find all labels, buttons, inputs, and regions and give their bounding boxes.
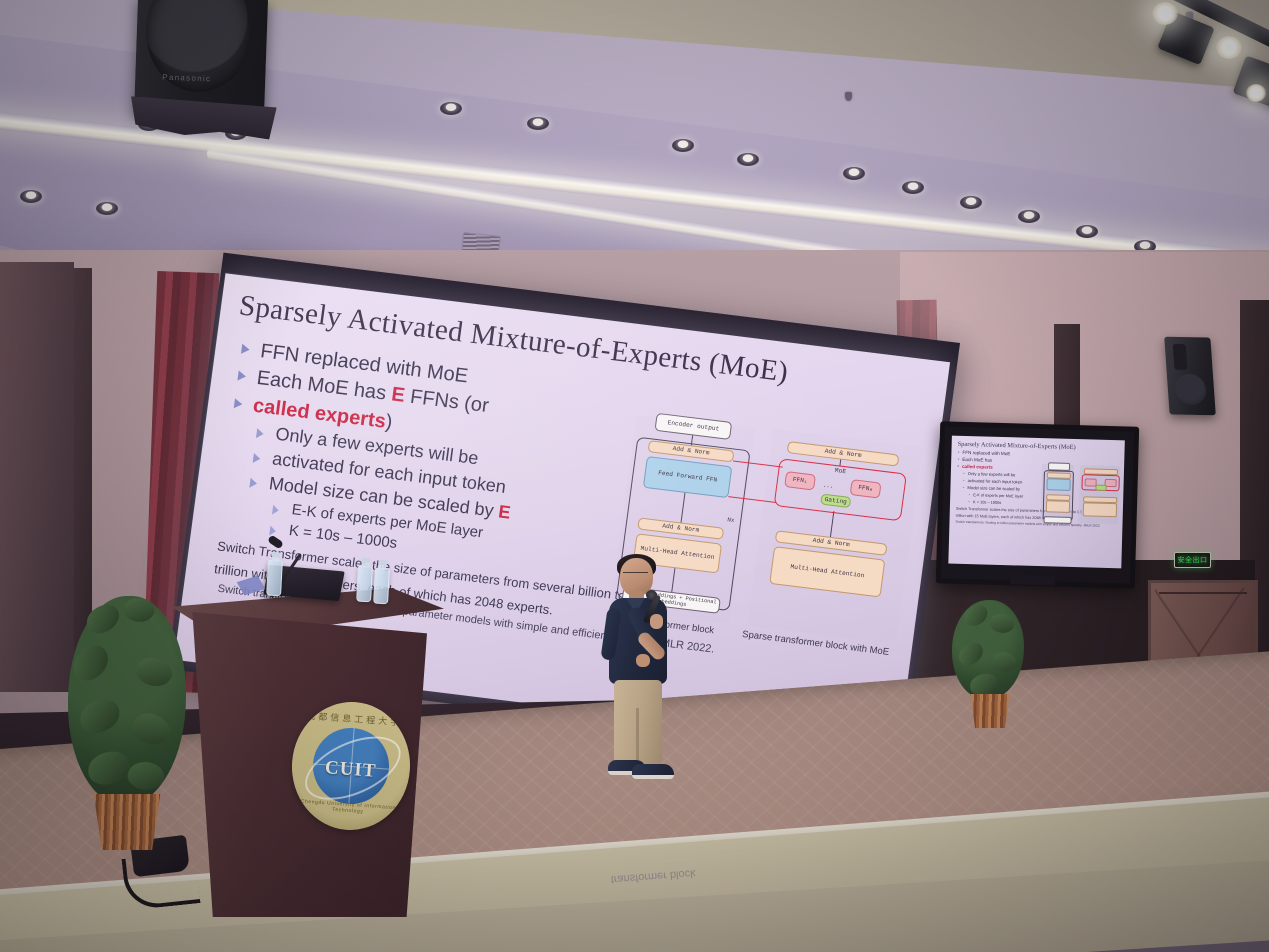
downlight-icon	[527, 117, 549, 130]
downlight-icon	[96, 202, 118, 215]
plant-pot	[90, 794, 164, 850]
monitor-diagram	[1040, 462, 1120, 540]
bottle-cap-icon	[361, 558, 370, 563]
downlight-icon	[843, 167, 865, 180]
potted-plant-left	[58, 596, 208, 864]
downlight-icon	[737, 153, 759, 166]
spotlight-bulb-icon	[1246, 84, 1266, 102]
microphone-head-icon	[646, 590, 657, 600]
conference-hall-scene: Panasonic 安全出口 Sparsely Activated Mixtur…	[0, 0, 1269, 952]
wall-speaker	[1164, 337, 1216, 416]
monitor-stand	[1011, 574, 1055, 585]
glasses-icon	[623, 572, 648, 580]
monitor-screen: Sparsely Activated Mixture-of-Experts (M…	[948, 436, 1125, 569]
downlight-icon	[960, 196, 982, 209]
presenter-shoe-right	[632, 764, 674, 779]
spotlight-bulb-icon	[1152, 2, 1178, 25]
diagram-repeat-label: Nx	[727, 516, 735, 524]
bullet-text-cont: )	[384, 411, 394, 434]
potted-plant-right	[946, 600, 1036, 728]
spotlight-bulb-icon	[1216, 36, 1242, 59]
speaker-woofer-icon	[1174, 374, 1207, 405]
speaker-brand-label: Panasonic	[162, 73, 211, 84]
plant-pot	[968, 694, 1012, 728]
downlight-icon	[672, 139, 694, 152]
trouser-seam	[636, 708, 639, 764]
exit-sign: 安全出口	[1174, 552, 1211, 568]
water-bottle[interactable]	[356, 566, 373, 603]
confidence-monitor: Sparsely Activated Mixture-of-Experts (M…	[936, 421, 1139, 588]
downlight-icon	[1076, 225, 1098, 238]
water-bottle[interactable]	[373, 568, 390, 605]
bullet-emphasis: E	[497, 501, 512, 522]
presenter-hand-right	[636, 654, 650, 667]
bottle-cap-icon	[378, 560, 387, 565]
presenter-hand	[650, 614, 663, 629]
downlight-icon	[902, 181, 924, 194]
downlight-icon	[20, 190, 42, 203]
water-bottle[interactable]	[266, 560, 283, 597]
speaker-tweeter-icon	[1173, 344, 1188, 370]
bottle-cap-icon	[271, 552, 280, 557]
diagram-ellipsis: ...	[822, 482, 834, 490]
downlight-icon	[440, 102, 462, 115]
sprinkler-icon	[845, 92, 852, 101]
downlight-icon	[1018, 210, 1040, 223]
presenter	[596, 558, 686, 786]
diagram-moe-label: MoE	[834, 467, 846, 475]
